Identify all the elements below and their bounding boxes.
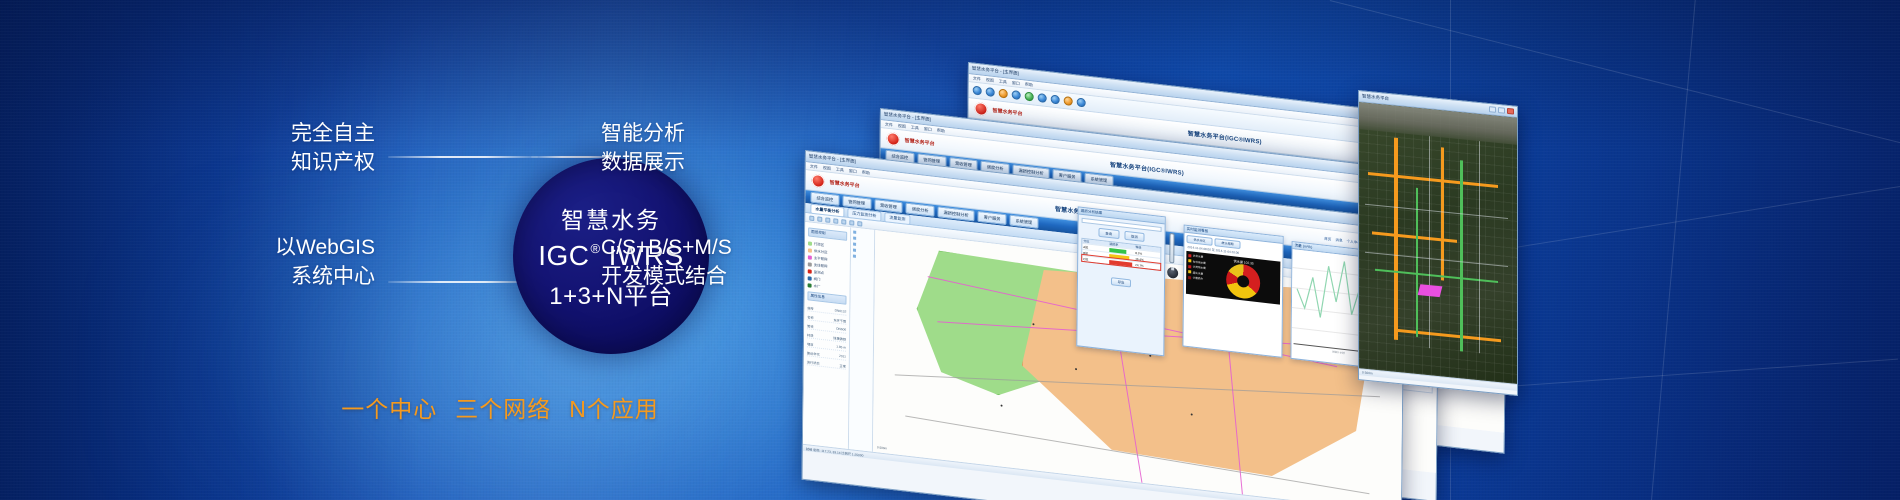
tagline: 一个中心三个网络N个应用 (190, 390, 810, 424)
cell-bar (1108, 259, 1134, 266)
map-tool-column-front[interactable] (849, 227, 875, 451)
attribute-key: 管径 (807, 323, 813, 329)
map-node[interactable] (1190, 413, 1192, 415)
attribute-value: 东环干管 (833, 317, 846, 323)
attribute-key: 材质 (807, 332, 813, 338)
layer-swatch-icon (808, 262, 812, 266)
brand-name-back: 智慧水务平台 (992, 107, 1022, 117)
menu-item-file[interactable]: 文件 (885, 121, 893, 128)
highlighted-parcel[interactable] (1418, 284, 1443, 297)
cell-rate: 24.7% (1134, 262, 1160, 269)
menu-item-tools[interactable]: 工具 (999, 78, 1007, 85)
menu-item-help[interactable]: 帮助 (1025, 81, 1033, 88)
zoom-out-icon[interactable] (825, 217, 830, 223)
menu-item-window[interactable]: 窗口 (1012, 80, 1020, 87)
toolbar-icon-gis[interactable] (1077, 98, 1086, 108)
road-major-vertical (1394, 137, 1398, 340)
query-button[interactable]: 查询 (1098, 228, 1119, 239)
link-home-front[interactable]: 首页 (1324, 237, 1331, 243)
road-minor (1479, 141, 1480, 354)
tool-row[interactable] (853, 243, 872, 248)
road-minor (1429, 136, 1430, 349)
road-major-vertical (1441, 148, 1444, 281)
pan-tool-icon[interactable] (809, 215, 814, 221)
monitor-dashboard-panel[interactable]: 实时监测看板 供水分区 统计周期 2014-11-04 08:00 至 2014… (1182, 225, 1283, 358)
menu-item-tools[interactable]: 工具 (911, 124, 919, 131)
spoke-bottom-left-line1: 以WebGIS (175, 234, 375, 263)
attribute-value: 球墨铸铁 (833, 335, 846, 341)
logo-icon-front (812, 174, 825, 188)
link-message-front[interactable]: 消息 (1335, 238, 1342, 244)
attribute-key: 埋深 (807, 341, 813, 347)
toolbar-icon-monitor[interactable] (973, 86, 982, 96)
menu-item-file[interactable]: 文件 (973, 75, 981, 82)
menu-item-help[interactable]: 帮助 (937, 127, 945, 134)
core-brand-igc: IGC (538, 240, 589, 272)
layer-swatch-icon (808, 255, 812, 259)
layer-panel-title-front: 图层控制 (808, 227, 847, 240)
satellite-window-controls[interactable] (1489, 106, 1514, 115)
brand-name-middle: 智慧水务平台 (905, 137, 935, 147)
logo-icon-back (974, 102, 987, 116)
tool-row[interactable] (853, 249, 872, 254)
tool-dot-icon (853, 255, 856, 258)
select-tool-icon[interactable] (833, 218, 838, 224)
satellite-window-title: 智慧水务平台 (1362, 93, 1389, 102)
menu-item-view[interactable]: 视图 (823, 165, 831, 172)
layer-label: 支线管网 (814, 262, 828, 269)
spoke-top-left-line2: 知识产权 (180, 149, 375, 178)
zoom-in-icon[interactable] (817, 216, 822, 222)
spoke-bottom-left: 以WebGIS 系统中心 (175, 234, 375, 291)
spoke-bottom-right-line2: 开发模式结合 (601, 263, 821, 292)
cancel-button[interactable]: 取消 (1124, 231, 1145, 242)
measure-tool-icon[interactable] (841, 219, 846, 225)
legend-entry: 计量损失 (1188, 275, 1206, 281)
core-chinese-title: 智慧水务 (561, 201, 661, 235)
spoke-top-right: 智能分析 数据展示 (601, 120, 801, 177)
menu-item-file[interactable]: 文件 (810, 163, 818, 170)
donut-chart-graphic (1226, 262, 1260, 300)
satellite-map-window[interactable]: 智慧水务平台 (1358, 90, 1518, 396)
toolbar-icon-billing[interactable] (999, 89, 1008, 99)
toolbar-icon-leakage[interactable] (1025, 92, 1034, 102)
menu-item-window[interactable]: 窗口 (849, 168, 857, 175)
spoke-top-left: 完全自主 知识产权 (180, 120, 375, 177)
map-node[interactable] (1149, 355, 1151, 357)
spoke-top-left-line1: 完全自主 (180, 120, 375, 149)
spoke-bottom-left-line2: 系统中心 (175, 263, 375, 292)
tool-dot-icon (853, 237, 856, 240)
layer-swatch-icon (808, 276, 812, 280)
print-icon[interactable] (857, 221, 862, 227)
tool-row[interactable] (853, 231, 872, 236)
zone-select[interactable]: 供水分区 (1186, 235, 1212, 246)
attribute-key: 运行状态 (807, 359, 820, 365)
layer-swatch-icon (808, 269, 812, 273)
tool-row[interactable] (853, 237, 872, 242)
pan-pad-icon[interactable] (1167, 267, 1178, 279)
menu-item-window[interactable]: 窗口 (924, 126, 932, 133)
export-button[interactable]: 导出 (1111, 277, 1132, 287)
dialog-body: 查询 取消 分区 漏损率 等级 A区 (1078, 214, 1165, 296)
donut-legend: 总供水量 有效用水量 计费用水量 漏失水量 计量损失 (1188, 253, 1206, 294)
connector-top-left (388, 156, 538, 158)
leakage-dialog[interactable]: 漏损分析结果 查询 取消 分区 漏损率 等级 (1076, 206, 1165, 356)
attribute-key: 编号 (807, 305, 813, 311)
road-green-vertical (1460, 160, 1463, 352)
layer-label: 阀门 (814, 276, 821, 282)
leakage-table: 分区 漏损率 等级 A区 8.2% B区 (1081, 238, 1161, 271)
tagline-part3: N个应用 (569, 396, 659, 422)
spoke-bottom-right-line1: C/S+B/S+M/S (601, 234, 821, 263)
attribute-panel-title-front: 属性信息 (807, 291, 846, 304)
tool-dot-icon (853, 231, 856, 234)
menu-item-view[interactable]: 视图 (986, 77, 994, 84)
layer-label: 水厂 (814, 283, 821, 289)
platform-title-middle: 智慧水务平台(IGC®IWRS) (1110, 159, 1184, 176)
screenshot-stack: 智慧水务平台 - [主界面] 文件 视图 工具 窗口 帮助 (960, 0, 1900, 500)
toolbar-icon-service[interactable] (1038, 93, 1047, 103)
attribute-value: 2011 (839, 353, 846, 359)
attribute-value: DN0132 (835, 308, 847, 314)
map-node[interactable] (1000, 404, 1002, 406)
zoom-slider-track[interactable] (1169, 233, 1174, 264)
spoke-bottom-right: C/S+B/S+M/S 开发模式结合 (601, 234, 821, 291)
menu-item-help[interactable]: 帮助 (862, 169, 870, 176)
toolbar-icon-network[interactable] (986, 87, 995, 97)
attribute-value: 1.85 m (836, 344, 846, 350)
water-volume-donut-chart[interactable]: 总供水量 有效用水量 计费用水量 漏失水量 计量损失 供水量 102.35 (1186, 251, 1280, 305)
maximize-icon[interactable] (1498, 107, 1505, 114)
attribute-value: 正常 (839, 362, 845, 368)
banner-root: 智慧水务 IGC®IWRS 1+3+N平台 完全自主 知识产权 以WebGIS … (0, 0, 1900, 500)
menu-item-view[interactable]: 视图 (898, 123, 906, 130)
toolbar-icon-settings[interactable] (1051, 95, 1060, 105)
identify-icon[interactable] (849, 220, 854, 226)
minimize-icon[interactable] (1489, 106, 1496, 113)
layer-label: 行政区 (814, 241, 824, 247)
attribute-key: 名称 (807, 314, 813, 320)
logo-icon-middle (887, 132, 900, 146)
toolbar-icon-dispatch[interactable] (1012, 90, 1021, 100)
spoke-top-right-line1: 智能分析 (601, 120, 801, 149)
attribute-value: DN600 (836, 326, 846, 332)
period-select[interactable]: 统计周期 (1215, 238, 1241, 249)
layer-swatch-icon (808, 283, 812, 287)
layer-label: 供水分区 (814, 248, 828, 255)
tagline-part2: 三个网络 (455, 396, 551, 422)
toolbar-icon-report[interactable] (1064, 96, 1073, 106)
layer-label: 监测点 (814, 269, 824, 275)
satellite-map-canvas[interactable] (1359, 102, 1517, 384)
map-scale-label-front: 0 500m (877, 445, 887, 450)
tagline-part1: 一个中心 (341, 396, 437, 422)
map-zoom-slider[interactable] (1167, 233, 1176, 279)
tool-dot-icon (853, 243, 856, 246)
tool-dot-icon (853, 249, 856, 252)
layer-swatch-icon (808, 248, 812, 252)
menu-item-tools[interactable]: 工具 (836, 166, 844, 173)
cell-zone: C区 (1082, 256, 1108, 263)
platform-title-back: 智慧水务平台(IGC®IWRS) (1188, 128, 1262, 145)
close-icon[interactable] (1507, 108, 1514, 115)
layer-swatch-icon (808, 241, 812, 245)
brand-name-front: 智慧水务平台 (830, 179, 860, 189)
layer-panel-front[interactable]: 图层控制 行政区 供水分区 主干管网 支线管网 监测点 阀门 水厂 属性信息 编… (803, 222, 851, 449)
tool-row[interactable] (853, 255, 872, 260)
layer-label: 主干管网 (814, 255, 828, 262)
registered-trademark-icon: ® (591, 242, 601, 255)
attribute-key: 建设年代 (807, 350, 820, 356)
spoke-top-right-line2: 数据展示 (601, 149, 801, 178)
